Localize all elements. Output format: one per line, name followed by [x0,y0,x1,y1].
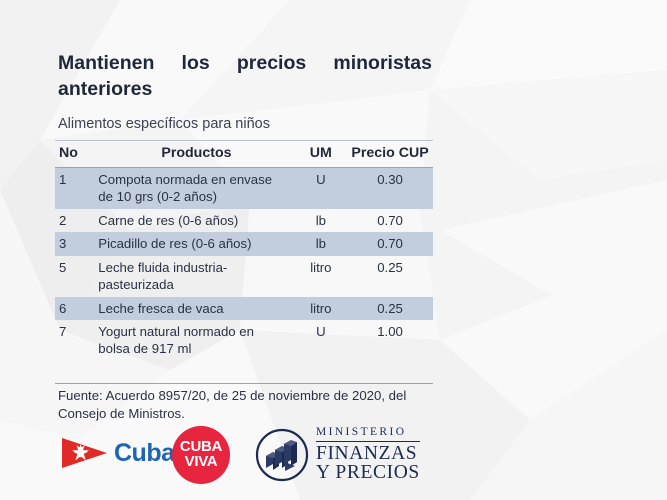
ministerio-line-2: FINANZAS [316,442,420,464]
price-table-container: No Productos UM Precio CUP 1Compota norm… [55,144,433,361]
cell-precio: 0.70 [347,232,433,255]
ministerio-logo: MINISTERIO FINANZAS Y PRECIOS [255,427,420,483]
cell-no: 5 [55,256,92,297]
cuba-logo-text: Cuba [114,441,175,466]
column-header-precio: Precio CUP [347,144,433,168]
slide-canvas: Mantienen los precios minoristas anterio… [0,0,667,500]
cell-producto: Yogurt natural normado en bolsa de 917 m… [92,320,294,361]
cell-precio: 0.25 [347,256,433,297]
table-bottom-divider [55,383,433,384]
cell-um: U [295,320,347,361]
cuba-logo: Cuba [61,436,175,470]
cuba-viva-logo: CUBA VIVA [172,426,230,484]
ministerio-wordmark: MINISTERIO FINANZAS Y PRECIOS [316,427,420,483]
cell-producto: Leche fluida industria-pasteurizada [92,256,294,297]
page-subtitle: Alimentos específicos para niños [58,116,438,133]
cell-um: lb [295,209,347,232]
column-header-producto: Productos [92,144,294,168]
price-table-body: 1Compota normada en envase de 10 grs (0-… [55,168,433,361]
cell-um: litro [295,256,347,297]
logo-bar: Cuba CUBA VIVA [55,424,455,486]
cell-no: 1 [55,168,92,209]
page-title: Mantienen los precios minoristas anterio… [58,50,432,103]
cell-precio: 0.30 [347,168,433,209]
cell-um: litro [295,297,347,320]
cell-precio: 0.70 [347,209,433,232]
cell-producto: Leche fresca de vaca [92,297,294,320]
table-row: 1Compota normada en envase de 10 grs (0-… [55,168,433,209]
table-header-row: No Productos UM Precio CUP [55,144,433,168]
cell-producto: Picadillo de res (0-6 años) [92,232,294,255]
page-title-line-2: anteriores [58,78,152,100]
table-row: 2Carne de res (0-6 años)lb0.70 [55,209,433,232]
ministerio-line-3: Y PRECIOS [316,463,420,483]
table-row: 5Leche fluida industria-pasteurizadalitr… [55,256,433,297]
source-note: Fuente: Acuerdo 8957/20, de 25 de noviem… [58,387,430,423]
table-row: 7Yogurt natural normado en bolsa de 917 … [55,320,433,361]
cell-precio: 1.00 [347,320,433,361]
column-header-um: UM [295,144,347,168]
ministerio-bars-circle-icon [255,428,309,482]
cell-no: 3 [55,232,92,255]
cuba-flag-triangle-star-icon [61,436,109,470]
column-header-no: No [55,144,92,168]
cell-no: 6 [55,297,92,320]
cell-um: lb [295,232,347,255]
cuba-viva-line-2: VIVA [185,455,218,470]
cell-no: 2 [55,209,92,232]
page-title-line-1: Mantienen los precios minoristas [58,52,432,74]
cell-producto: Compota normada en envase de 10 grs (0-2… [92,168,294,209]
cell-precio: 0.25 [347,297,433,320]
price-table-header: No Productos UM Precio CUP [55,144,433,168]
cell-um: U [295,168,347,209]
cell-producto: Carne de res (0-6 años) [92,209,294,232]
table-row: 3Picadillo de res (0-6 años)lb0.70 [55,232,433,255]
cuba-viva-text: CUBA VIVA [172,426,230,484]
price-table: No Productos UM Precio CUP 1Compota norm… [55,144,433,361]
table-row: 6Leche fresca de vacalitro0.25 [55,297,433,320]
ministerio-line-1: MINISTERIO [316,427,420,442]
cell-no: 7 [55,320,92,361]
subtitle-divider [55,140,433,141]
